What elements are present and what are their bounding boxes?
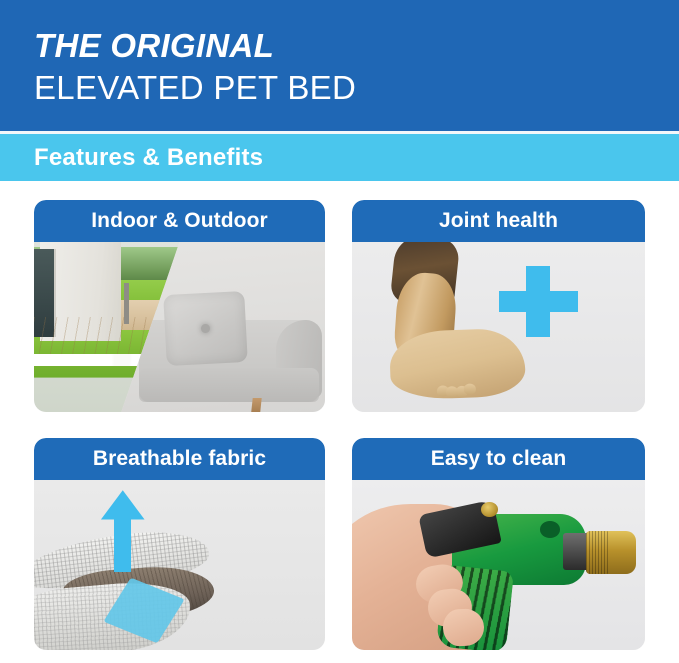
feature-card-joint-health: Joint health xyxy=(352,200,645,412)
feature-card-header: Easy to clean xyxy=(352,438,645,480)
feature-card-title: Easy to clean xyxy=(431,447,567,471)
section-header-bar: Features & Benefits xyxy=(0,134,679,181)
feature-card-title: Indoor & Outdoor xyxy=(91,209,268,233)
feature-card-body xyxy=(352,242,645,412)
medical-cross-icon xyxy=(499,266,578,337)
section-header-label: Features & Benefits xyxy=(34,144,263,172)
hose-nozzle-photo xyxy=(352,480,645,650)
feature-card-header: Breathable fabric xyxy=(34,438,325,480)
spray-nozzle-hanging-hole xyxy=(540,521,561,538)
feature-card-title: Breathable fabric xyxy=(93,447,266,471)
product-title-primary: THE ORIGINAL xyxy=(34,26,679,66)
airflow-arrow-up-icon xyxy=(101,490,145,572)
feature-card-body xyxy=(352,480,645,650)
feature-card-title: Joint health xyxy=(439,209,558,233)
dog-paw-photo xyxy=(352,242,645,412)
feature-card-indoor-outdoor: Indoor & Outdoor xyxy=(34,200,325,412)
dog-toe-shape xyxy=(464,384,476,395)
brass-knurl-texture xyxy=(586,531,609,574)
sofa-cushion-shape xyxy=(163,291,248,367)
sofa-seat-shape xyxy=(139,368,319,402)
product-title-banner: THE ORIGINAL ELEVATED PET BED xyxy=(0,0,679,131)
feature-card-header: Indoor & Outdoor xyxy=(34,200,325,242)
sofa-leg-shape xyxy=(252,398,262,412)
product-title-secondary: ELEVATED PET BED xyxy=(34,68,679,108)
mesh-fabric-photo xyxy=(34,480,325,650)
feature-card-body xyxy=(34,480,325,650)
feature-card-grid: Indoor & Outdoor xyxy=(34,200,645,650)
feature-card-body xyxy=(34,242,325,412)
dog-paw-shape xyxy=(389,328,526,401)
indoor-outdoor-split-photo xyxy=(34,242,325,412)
feature-card-header: Joint health xyxy=(352,200,645,242)
feature-card-easy-to-clean: Easy to clean xyxy=(352,438,645,650)
feature-card-breathable-fabric: Breathable fabric xyxy=(34,438,325,650)
